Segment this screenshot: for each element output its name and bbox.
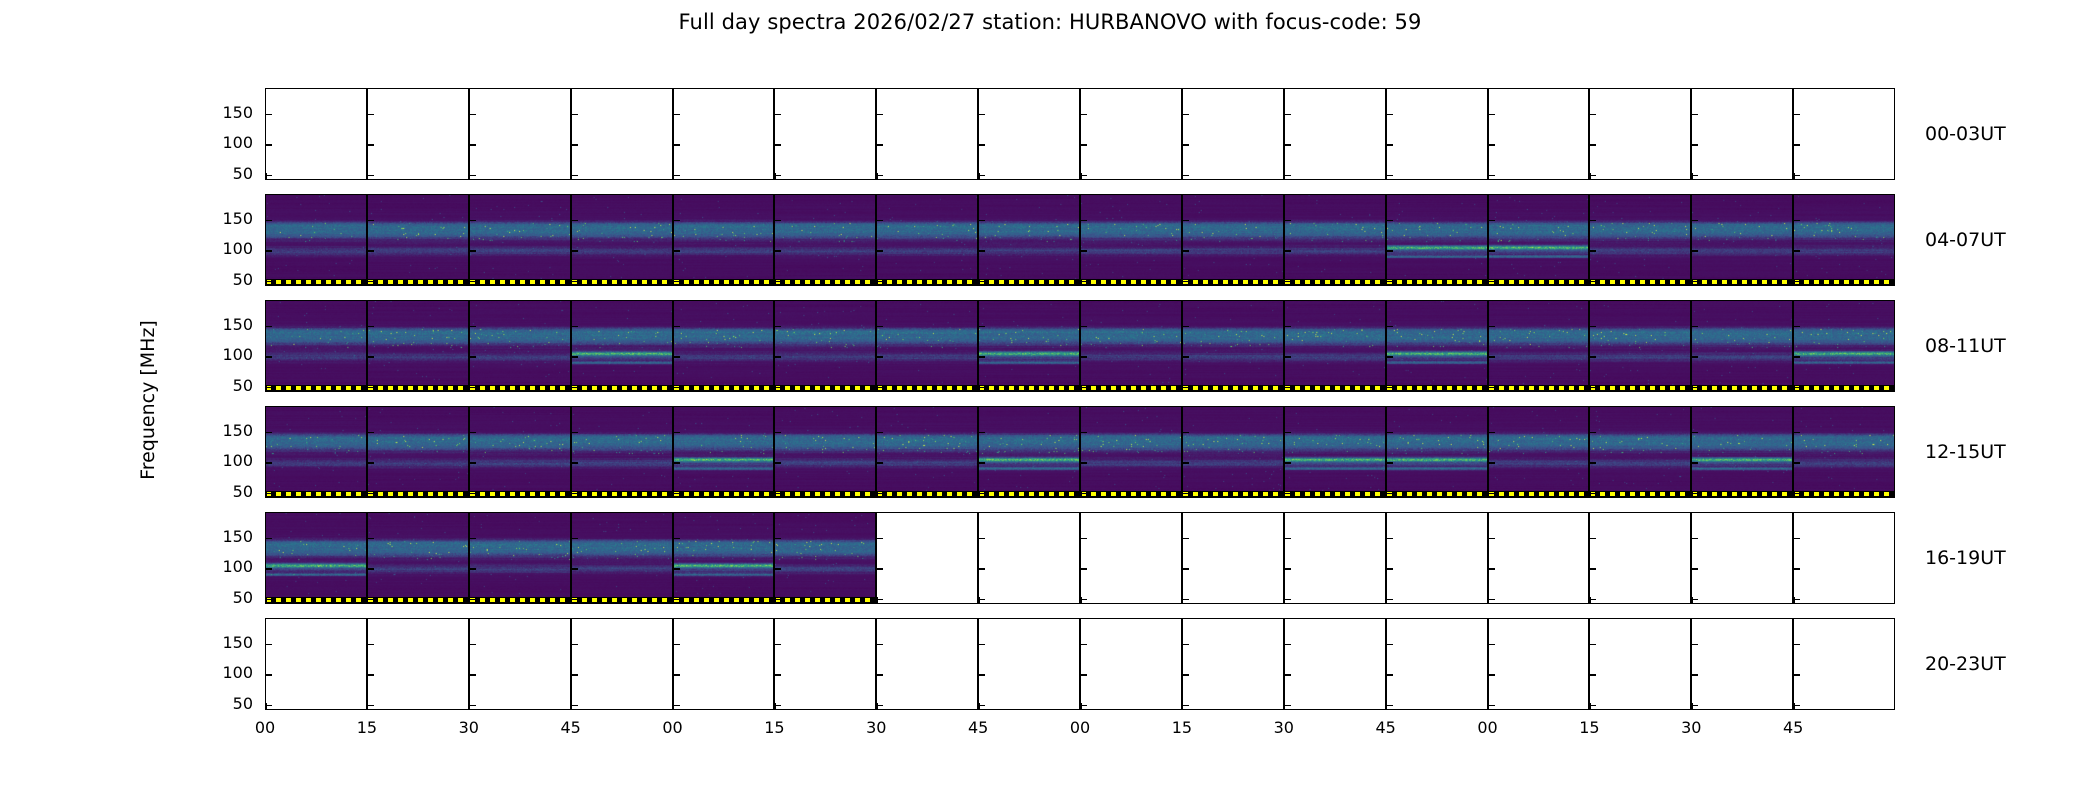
spectrogram-canvas	[1387, 301, 1487, 391]
x-axis-tick	[1182, 173, 1184, 180]
spectrogram-panel[interactable]	[1182, 512, 1284, 604]
y-axis-tick	[1386, 462, 1393, 464]
y-axis-tick	[876, 326, 883, 328]
spectrogram-panel[interactable]	[265, 512, 367, 604]
spectrogram-panel[interactable]	[1182, 88, 1284, 180]
y-axis-tick	[367, 644, 374, 646]
y-axis-tick	[1691, 432, 1698, 434]
y-axis-tick	[1284, 644, 1291, 646]
y-axis-tick	[367, 674, 374, 676]
spectrogram-panel[interactable]	[1589, 300, 1691, 392]
y-axis-tick-label: 100	[222, 559, 253, 575]
spectrogram-canvas	[1183, 195, 1283, 285]
spectrogram-panel[interactable]	[1793, 300, 1895, 392]
spectrogram-panel[interactable]	[1691, 512, 1793, 604]
y-axis-tick	[1284, 432, 1291, 434]
x-axis-tick	[1691, 703, 1693, 710]
x-axis-tick	[1589, 385, 1591, 392]
detection-marker-line	[368, 385, 468, 391]
spectrogram-image	[1590, 195, 1690, 285]
y-axis-tick	[1284, 538, 1291, 540]
spectrogram-panel[interactable]	[1080, 88, 1182, 180]
y-axis-tick	[1182, 114, 1189, 116]
x-axis-tick	[367, 173, 369, 180]
spectrogram-canvas	[877, 407, 977, 497]
spectrogram-canvas	[1794, 195, 1894, 285]
spectrogram-panel[interactable]	[978, 194, 1080, 286]
x-axis-tick	[367, 279, 369, 286]
y-axis-tick-label: 150	[222, 105, 253, 121]
spectrogram-panel[interactable]	[1793, 406, 1895, 498]
y-axis-tick	[1182, 144, 1189, 146]
x-axis-tick	[265, 597, 267, 604]
spectrogram-image	[572, 195, 672, 285]
spectrogram-panel[interactable]	[367, 194, 469, 286]
y-axis-tick	[1386, 326, 1393, 328]
spectrogram-image	[1387, 301, 1487, 391]
y-axis-tick-label: 100	[222, 665, 253, 681]
spectrogram-panel[interactable]	[673, 512, 775, 604]
y-axis-tick-label: 150	[222, 423, 253, 439]
spectrogram-panel[interactable]	[1386, 194, 1488, 286]
y-axis-tick	[1589, 432, 1596, 434]
spectrogram-canvas	[368, 513, 468, 603]
spectrogram-panel[interactable]	[876, 512, 978, 604]
spectrogram-canvas	[1489, 407, 1589, 497]
spectrogram-row	[265, 88, 1895, 180]
spectrogram-panel[interactable]	[1589, 194, 1691, 286]
spectrogram-panel[interactable]	[265, 88, 367, 180]
spectrogram-canvas	[1590, 195, 1690, 285]
spectrogram-panel[interactable]	[1182, 618, 1284, 710]
x-axis-tick	[774, 173, 776, 180]
spectrogram-image	[775, 301, 875, 391]
x-axis-tick	[673, 491, 675, 498]
detection-marker-line	[1794, 491, 1894, 497]
spectrogram-panel[interactable]	[1589, 618, 1691, 710]
spectrogram-panel[interactable]	[1589, 406, 1691, 498]
spectrogram-panel[interactable]	[774, 512, 876, 604]
spectrogram-canvas	[979, 301, 1079, 391]
y-axis-tick	[469, 326, 476, 328]
x-axis-tick	[1589, 173, 1591, 180]
spectrogram-panel[interactable]	[1488, 406, 1590, 498]
x-axis-tick	[469, 385, 471, 392]
y-axis-tick	[1691, 220, 1698, 222]
spectrogram-image	[266, 195, 366, 285]
detection-marker-line	[775, 279, 875, 285]
y-axis-tick	[571, 114, 578, 116]
spectrogram-panel[interactable]	[1488, 618, 1590, 710]
spectrogram-panel[interactable]	[367, 512, 469, 604]
y-axis-tick	[469, 538, 476, 540]
spectrogram-panel[interactable]	[876, 406, 978, 498]
y-axis-tick	[1386, 568, 1393, 570]
spectrogram-panel[interactable]	[1793, 194, 1895, 286]
y-axis-tick	[1589, 220, 1596, 222]
spectrogram-image	[1285, 407, 1385, 497]
x-axis-tick	[978, 703, 980, 710]
spectrogram-image	[1285, 195, 1385, 285]
spectrogram-panel[interactable]	[1386, 88, 1488, 180]
x-axis-tick	[265, 491, 267, 498]
spectrogram-image	[979, 195, 1079, 285]
y-axis-tick	[1488, 144, 1495, 146]
y-axis-tick-labels: 50100150	[193, 194, 253, 286]
x-axis-tick	[1691, 385, 1693, 392]
y-axis-tick	[265, 114, 272, 116]
x-axis-tick-labels: 00153045001530450015304500153045	[265, 718, 1895, 742]
y-axis-tick	[265, 432, 272, 434]
x-axis-tick-label: 00	[255, 718, 275, 737]
y-axis-tick	[1386, 114, 1393, 116]
spectrogram-panel[interactable]	[1284, 618, 1386, 710]
detection-marker-line	[1081, 385, 1181, 391]
spectrogram-panel[interactable]	[367, 88, 469, 180]
spectrogram-panel[interactable]	[1386, 512, 1488, 604]
detection-marker-line	[368, 279, 468, 285]
detection-marker-line	[1285, 491, 1385, 497]
spectrogram-panel[interactable]	[1182, 406, 1284, 498]
y-axis-tick	[1284, 568, 1291, 570]
y-axis-tick	[1793, 220, 1800, 222]
spectrogram-panel[interactable]	[673, 406, 775, 498]
spectrogram-panel[interactable]	[1589, 512, 1691, 604]
spectrogram-panel[interactable]	[876, 194, 978, 286]
spectrogram-image	[674, 195, 774, 285]
spectrogram-panel[interactable]	[1284, 194, 1386, 286]
spectrogram-panel[interactable]	[1488, 194, 1590, 286]
spectrogram-panel[interactable]	[1284, 512, 1386, 604]
spectrogram-canvas	[674, 513, 774, 603]
spectrogram-panel[interactable]	[571, 512, 673, 604]
row-time-range-label: 16-19UT	[1925, 547, 2006, 569]
spectrogram-image	[368, 407, 468, 497]
spectrogram-panel[interactable]	[571, 88, 673, 180]
y-axis-tick	[1182, 462, 1189, 464]
spectrogram-canvas	[1590, 407, 1690, 497]
y-axis-tick	[876, 220, 883, 222]
spectrogram-panel[interactable]	[265, 300, 367, 392]
spectrogram-panel[interactable]	[1182, 194, 1284, 286]
detection-marker-line	[1387, 491, 1487, 497]
detection-marker-line	[674, 279, 774, 285]
spectrogram-panel[interactable]	[1386, 406, 1488, 498]
y-axis-tick	[469, 220, 476, 222]
spectrogram-image	[368, 513, 468, 603]
y-axis-tick	[1589, 326, 1596, 328]
spectrogram-panel[interactable]	[1488, 88, 1590, 180]
y-axis-tick	[673, 568, 680, 570]
y-axis-tick	[774, 220, 781, 222]
x-axis-tick-label: 30	[459, 718, 479, 737]
y-axis-tick	[1386, 220, 1393, 222]
x-axis-tick	[571, 173, 573, 180]
spectrogram-panel[interactable]	[469, 194, 571, 286]
spectrogram-panel[interactable]	[367, 300, 469, 392]
spectrogram-panel[interactable]	[774, 406, 876, 498]
x-axis-tick-label: 15	[764, 718, 784, 737]
x-axis-tick	[1793, 597, 1795, 604]
y-axis-tick	[978, 462, 985, 464]
y-axis-tick	[1488, 432, 1495, 434]
detection-marker-line	[470, 597, 570, 603]
spectrogram-panel[interactable]	[673, 300, 775, 392]
x-axis-tick	[1386, 385, 1388, 392]
spectrogram-panel[interactable]	[1691, 194, 1793, 286]
y-axis-tick	[469, 250, 476, 252]
spectrogram-panel[interactable]	[1386, 618, 1488, 710]
y-axis-tick	[673, 144, 680, 146]
x-axis-tick	[774, 385, 776, 392]
y-axis-tick	[1284, 326, 1291, 328]
y-axis-tick-label: 150	[222, 317, 253, 333]
x-axis-tick	[469, 279, 471, 286]
y-axis-tick	[1589, 250, 1596, 252]
spectrogram-panel[interactable]	[876, 300, 978, 392]
spectrogram-panel[interactable]	[1691, 300, 1793, 392]
spectrogram-panel[interactable]	[469, 618, 571, 710]
spectrogram-canvas	[775, 513, 875, 603]
spectrogram-panel[interactable]	[1386, 300, 1488, 392]
spectrogram-panel[interactable]	[978, 406, 1080, 498]
detection-marker-line	[1285, 385, 1385, 391]
x-axis-tick	[571, 703, 573, 710]
y-axis-tick	[876, 144, 883, 146]
spectrogram-panel[interactable]	[571, 618, 673, 710]
spectrogram-panel[interactable]	[1793, 512, 1895, 604]
y-axis-tick	[265, 568, 272, 570]
x-axis-tick	[1080, 703, 1082, 710]
y-axis-tick	[1386, 538, 1393, 540]
x-axis-tick	[1793, 279, 1795, 286]
detection-marker-line	[1489, 491, 1589, 497]
spectrogram-panel[interactable]	[367, 618, 469, 710]
spectrogram-panel[interactable]	[265, 618, 367, 710]
spectrogram-panel[interactable]	[978, 512, 1080, 604]
spectrogram-panel[interactable]	[1182, 300, 1284, 392]
spectrogram-panel[interactable]	[1080, 512, 1182, 604]
spectrogram-panel[interactable]	[1284, 88, 1386, 180]
spectrogram-panel[interactable]	[265, 194, 367, 286]
x-axis-tick-label: 00	[1477, 718, 1497, 737]
y-axis-tick	[1080, 144, 1087, 146]
x-axis-tick	[469, 491, 471, 498]
y-axis-tick-label: 150	[222, 529, 253, 545]
y-axis-tick	[774, 144, 781, 146]
spectrogram-panel[interactable]	[1793, 618, 1895, 710]
spectrogram-canvas	[1183, 301, 1283, 391]
spectrogram-image	[1692, 407, 1792, 497]
y-axis-tick-labels: 50100150	[193, 512, 253, 604]
x-axis-tick	[876, 491, 878, 498]
detection-marker-line	[877, 279, 977, 285]
y-axis-tick-labels: 50100150	[193, 406, 253, 498]
y-axis-tick	[265, 220, 272, 222]
spectrogram-canvas	[572, 301, 672, 391]
y-axis-tick	[1182, 250, 1189, 252]
spectrogram-canvas	[470, 407, 570, 497]
detection-marker-line	[1590, 385, 1690, 391]
y-axis-tick-label: 100	[222, 135, 253, 151]
detection-marker-line	[1081, 491, 1181, 497]
y-axis-tick	[1488, 250, 1495, 252]
spectrogram-panel[interactable]	[1080, 300, 1182, 392]
detection-marker-line	[1183, 385, 1283, 391]
y-axis-tick	[876, 568, 883, 570]
y-axis-tick	[469, 356, 476, 358]
spectrogram-panel[interactable]	[469, 300, 571, 392]
y-axis-tick	[571, 250, 578, 252]
x-axis-tick	[1691, 279, 1693, 286]
detection-marker-line	[979, 279, 1079, 285]
y-axis-tick	[265, 326, 272, 328]
y-axis-tick	[673, 538, 680, 540]
y-axis-tick	[1589, 356, 1596, 358]
x-axis-tick	[265, 385, 267, 392]
spectrogram-canvas	[1590, 301, 1690, 391]
y-axis-tick	[1589, 144, 1596, 146]
spectrogram-panel[interactable]	[1488, 512, 1590, 604]
y-axis-tick-label: 50	[233, 696, 253, 712]
y-axis-tick-label: 50	[233, 166, 253, 182]
y-axis-tick	[1793, 568, 1800, 570]
y-axis-tick	[1284, 356, 1291, 358]
x-axis-tick	[265, 703, 267, 710]
spectrogram-canvas	[674, 301, 774, 391]
detection-marker-line	[674, 491, 774, 497]
spectrogram-image	[1692, 301, 1792, 391]
spectrogram-canvas	[1489, 195, 1589, 285]
x-axis-tick	[265, 173, 267, 180]
spectrogram-figure: Full day spectra 2026/02/27 station: HUR…	[0, 0, 2100, 800]
spectrogram-panel[interactable]	[774, 88, 876, 180]
x-axis-tick	[1182, 703, 1184, 710]
spectrogram-canvas	[1285, 407, 1385, 497]
y-axis-tick	[774, 644, 781, 646]
x-axis-tick	[265, 279, 267, 286]
x-axis-tick	[571, 385, 573, 392]
y-axis-tick	[1080, 326, 1087, 328]
y-axis-tick-label: 150	[222, 211, 253, 227]
spectrogram-panel[interactable]	[978, 300, 1080, 392]
spectrogram-panel[interactable]	[673, 194, 775, 286]
spectrogram-canvas	[1794, 301, 1894, 391]
spectrogram-panel[interactable]	[1080, 618, 1182, 710]
x-axis-tick-label: 30	[866, 718, 886, 737]
spectrogram-image	[470, 513, 570, 603]
spectrogram-panel[interactable]	[1691, 618, 1793, 710]
row-time-range-label: 08-11UT	[1925, 335, 2006, 357]
detection-marker-line	[979, 385, 1079, 391]
spectrogram-panel[interactable]	[1793, 88, 1895, 180]
spectrogram-image	[1285, 301, 1385, 391]
x-axis-tick	[469, 597, 471, 604]
x-axis-tick	[673, 703, 675, 710]
y-axis-tick	[978, 538, 985, 540]
spectrogram-panel[interactable]	[1691, 406, 1793, 498]
y-axis-tick	[978, 432, 985, 434]
spectrogram-panel[interactable]	[673, 618, 775, 710]
spectrogram-panel[interactable]	[265, 406, 367, 498]
spectrogram-panel[interactable]	[876, 88, 978, 180]
row-time-range-label: 00-03UT	[1925, 123, 2006, 145]
spectrogram-panel[interactable]	[1080, 194, 1182, 286]
x-axis-tick	[469, 173, 471, 180]
spectrogram-image	[470, 195, 570, 285]
spectrogram-panel[interactable]	[978, 88, 1080, 180]
spectrogram-panel[interactable]	[571, 194, 673, 286]
x-axis-tick	[571, 491, 573, 498]
y-axis-tick	[1488, 644, 1495, 646]
spectrogram-image	[368, 195, 468, 285]
y-axis-tick	[367, 250, 374, 252]
x-axis-tick	[1488, 385, 1490, 392]
spectrogram-panel[interactable]	[774, 618, 876, 710]
y-axis-tick	[1691, 538, 1698, 540]
spectrogram-panel[interactable]	[876, 618, 978, 710]
spectrogram-panel[interactable]	[367, 406, 469, 498]
y-axis-tick	[1691, 250, 1698, 252]
spectrogram-canvas	[470, 195, 570, 285]
spectrogram-panel[interactable]	[1284, 406, 1386, 498]
x-axis-tick-label: 15	[1579, 718, 1599, 737]
y-axis-tick	[774, 326, 781, 328]
spectrogram-panel[interactable]	[774, 194, 876, 286]
spectrogram-panel[interactable]	[774, 300, 876, 392]
spectrogram-image	[1489, 301, 1589, 391]
detection-marker-line	[1081, 279, 1181, 285]
spectrogram-panel[interactable]	[673, 88, 775, 180]
y-axis-tick	[265, 356, 272, 358]
x-axis-tick	[1284, 385, 1286, 392]
x-axis-tick	[774, 597, 776, 604]
x-axis-tick	[1488, 279, 1490, 286]
x-axis-tick	[1386, 703, 1388, 710]
y-axis-tick	[1080, 250, 1087, 252]
spectrogram-panel[interactable]	[1284, 300, 1386, 392]
y-axis-tick	[1080, 432, 1087, 434]
spectrogram-panel[interactable]	[469, 512, 571, 604]
y-axis-tick	[1182, 644, 1189, 646]
spectrogram-panel[interactable]	[1080, 406, 1182, 498]
x-axis-tick	[1793, 703, 1795, 710]
spectrogram-panel[interactable]	[1488, 300, 1590, 392]
detection-marker-line	[1183, 491, 1283, 497]
detection-marker-line	[1387, 279, 1487, 285]
y-axis-tick	[673, 432, 680, 434]
spectrogram-panel[interactable]	[1589, 88, 1691, 180]
spectrogram-canvas	[266, 513, 366, 603]
spectrogram-panel[interactable]	[469, 88, 571, 180]
x-axis-tick	[1589, 279, 1591, 286]
spectrogram-panel[interactable]	[1691, 88, 1793, 180]
spectrogram-image	[979, 407, 1079, 497]
x-axis-tick	[1589, 597, 1591, 604]
spectrogram-canvas	[674, 407, 774, 497]
y-axis-tick	[469, 462, 476, 464]
x-axis-tick-label: 45	[560, 718, 580, 737]
spectrogram-panel[interactable]	[571, 406, 673, 498]
spectrogram-panel[interactable]	[978, 618, 1080, 710]
x-axis-tick	[876, 597, 878, 604]
x-axis-tick	[673, 173, 675, 180]
y-axis-tick	[774, 538, 781, 540]
spectrogram-panel[interactable]	[571, 300, 673, 392]
spectrogram-canvas	[877, 301, 977, 391]
x-axis-tick	[876, 385, 878, 392]
spectrogram-panel[interactable]	[469, 406, 571, 498]
